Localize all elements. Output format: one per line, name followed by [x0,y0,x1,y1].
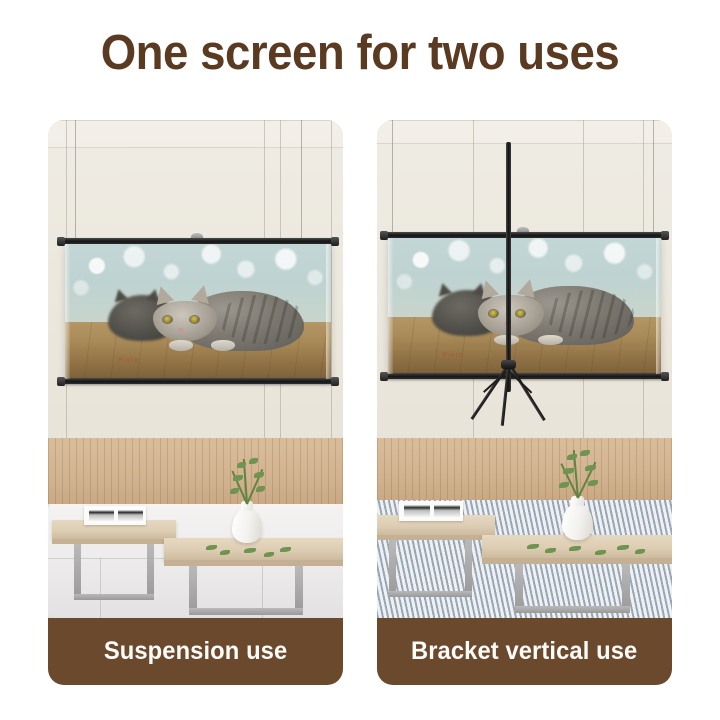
rail-end-cap [57,237,65,246]
side-table-leg [74,544,81,599]
coffee-table-leg-foot [189,608,303,615]
coffee-table-leg [295,566,303,614]
cabinet-band [377,120,672,144]
kitten-paw-left [169,340,193,351]
hanging-wire [653,120,654,242]
side-table-leg [465,540,472,596]
rail-end-cap [380,231,388,240]
screen-fabric: Pixta [65,244,331,379]
photo-watermark: Pixta [443,352,464,359]
side-table-leg-foot [74,594,154,600]
tripod-hub [501,360,516,369]
side-table-leg [389,540,396,596]
coffee-table-leg [189,566,197,614]
side-table-leg-foot [389,591,472,597]
hanging-wire [75,120,76,250]
page-title: One screen for two uses [25,24,695,82]
weight-bar-end-cap [331,377,339,386]
fabric-edge-right [656,238,661,374]
scene-suspension: Pixta [48,120,343,618]
projection-screen-tripod[interactable]: Pixta [383,232,666,387]
caption-bar-suspension: Suspension use [48,618,343,685]
coffee-table-leg [622,564,630,612]
fabric-edge-left [65,244,70,379]
screen-fabric: Pixta [388,238,661,374]
rail-end-cap [331,237,339,246]
caption-bar-bracket-vertical: Bracket vertical use [377,618,672,685]
kitten-tabby-stripes [546,290,633,339]
kitten-nose [178,328,184,333]
weight-bar-end-cap [380,372,388,381]
cabinet-band [48,120,343,148]
scene-bracket-vertical: Pixta [377,120,672,618]
projected-image: Pixta [388,238,661,374]
kitten-eye-left [163,316,172,323]
kitten-ear-right [191,283,213,304]
wainscot-panel [48,438,343,504]
coffee-table-leg [515,564,523,612]
caption-label: Bracket vertical use [411,637,637,666]
caption-label: Suspension use [104,637,287,666]
panel-bracket-vertical-use[interactable]: Pixta [377,120,672,685]
projection-screen-suspended[interactable]: Pixta [60,238,336,393]
book-page-right [118,510,143,521]
book-page-right [434,505,460,517]
screen-bottom-weight-bar [383,373,666,379]
floor-grout-line [100,558,101,618]
coffee-table-leg-foot [515,606,630,613]
book-page-left [89,510,114,521]
panel-suspension-use[interactable]: Pixta [48,120,343,685]
white-vase [232,509,262,543]
wainscot-panel [377,438,672,500]
book-page-left [404,505,430,517]
weight-bar-end-cap [661,372,669,381]
kitten-tabby-stripes [219,295,304,344]
coffee-table-edge [482,558,672,564]
hanging-wire [392,120,393,242]
side-table-leg [147,544,154,599]
kitten-eye-right [190,316,199,323]
fabric-edge-left [388,238,393,374]
tripod-center-pole[interactable] [506,142,511,392]
photo-watermark: Pixta [118,357,139,364]
side-table-edge [52,539,176,544]
hanging-wire [301,120,302,250]
screen-bottom-weight-bar [60,378,336,384]
projected-image: Pixta [65,244,331,379]
weight-bar-end-cap [57,377,65,386]
white-vase [562,504,593,540]
fabric-edge-right [326,244,331,379]
rail-end-cap [661,231,669,240]
kitten-paw-right [211,340,235,351]
